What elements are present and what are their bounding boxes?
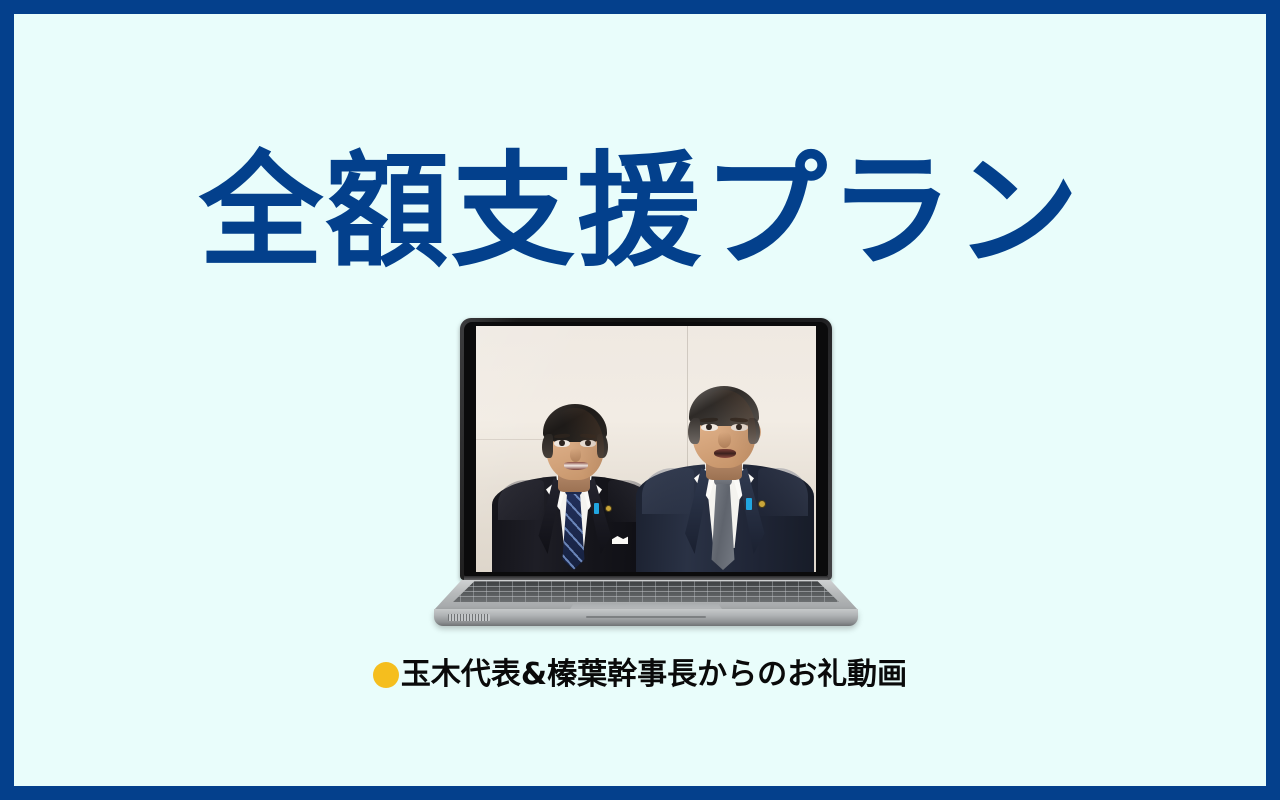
page-title: 全額支援プラン bbox=[14, 144, 1266, 280]
screen-glare bbox=[476, 326, 816, 572]
bullet-icon bbox=[373, 662, 399, 688]
slide-frame: 全額支援プラン bbox=[0, 0, 1280, 800]
laptop-latch-groove bbox=[586, 616, 706, 618]
keyboard-row bbox=[434, 586, 858, 587]
laptop-screen-content bbox=[476, 326, 816, 572]
keyboard-row bbox=[434, 596, 858, 597]
laptop-keyboard bbox=[434, 580, 858, 602]
keyboard-row bbox=[434, 591, 858, 592]
laptop-vent-grille bbox=[448, 614, 490, 621]
laptop-palmrest bbox=[434, 580, 858, 610]
laptop-base bbox=[434, 580, 858, 626]
laptop-front-edge bbox=[434, 609, 858, 626]
caption: 玉木代表&榛葉幹事長からのお礼動画 bbox=[14, 658, 1266, 692]
caption-text: 玉木代表&榛葉幹事長からのお礼動画 bbox=[401, 658, 907, 692]
slide-canvas: 全額支援プラン bbox=[14, 14, 1266, 786]
video-still-photo bbox=[476, 326, 816, 572]
laptop-illustration bbox=[426, 308, 866, 634]
